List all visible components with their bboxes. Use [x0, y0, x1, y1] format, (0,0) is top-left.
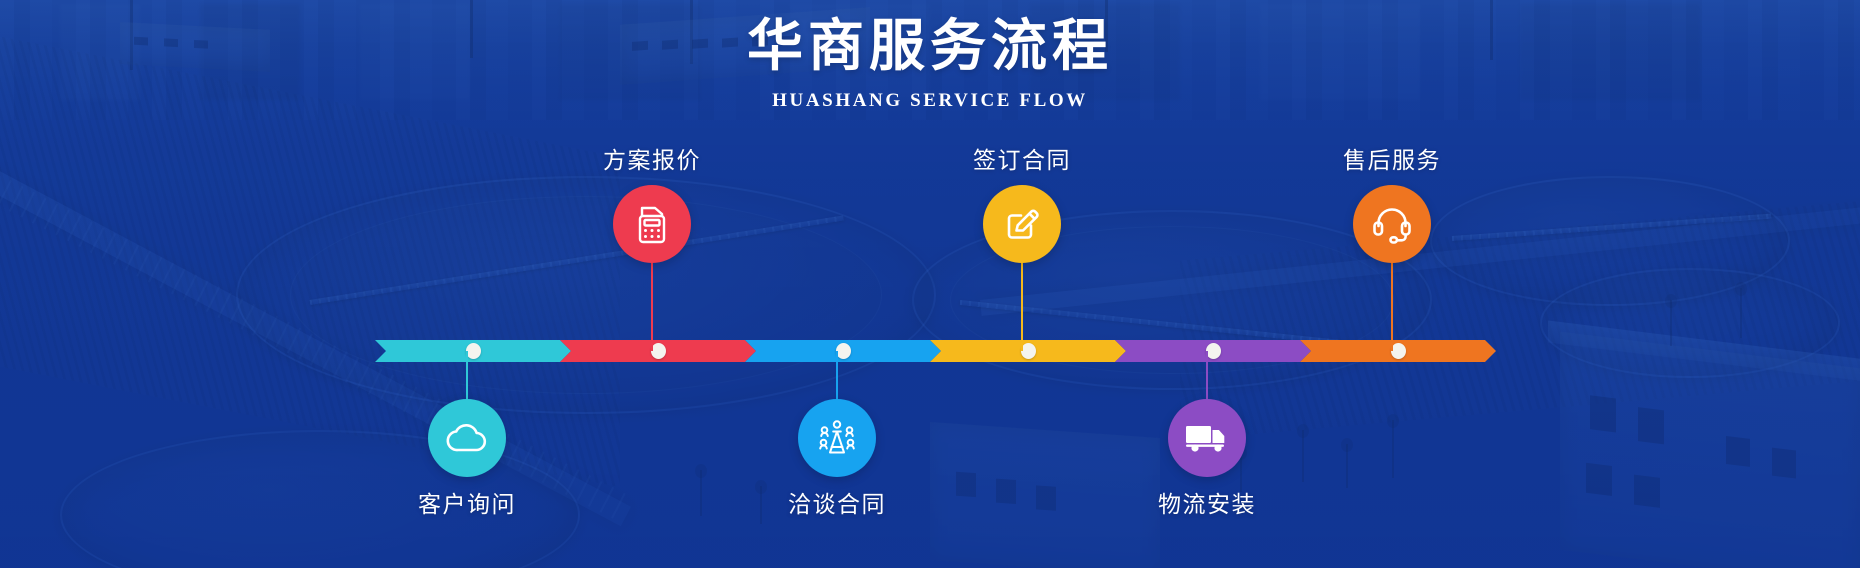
flow-step-circle[interactable]	[1168, 399, 1246, 477]
flow-step-label: 售后服务	[1242, 141, 1542, 175]
flow-step-label: 洽谈合同	[687, 485, 987, 519]
banner-titles: 华商服务流程 HUASHANG SERVICE FLOW	[0, 16, 1860, 112]
page-subtitle: HUASHANG SERVICE FLOW	[0, 90, 1860, 112]
flow-step-stem	[1206, 351, 1208, 399]
calculator-icon	[633, 203, 671, 245]
flow-step-label: 客户询问	[317, 485, 617, 519]
flow-step-stem	[836, 351, 838, 399]
flow-step-circle[interactable]	[1353, 185, 1431, 263]
flow-step-label: 物流安装	[1057, 485, 1357, 519]
flow-step-circle[interactable]	[613, 185, 691, 263]
flow-segment-4[interactable]	[930, 340, 1126, 362]
sign-contract-icon	[1001, 203, 1043, 245]
flow-segment-1[interactable]	[375, 340, 571, 362]
flow-step-circle[interactable]	[983, 185, 1061, 263]
flow-segment-6[interactable]	[1300, 340, 1496, 362]
truck-icon	[1183, 421, 1231, 455]
meeting-icon	[815, 418, 859, 458]
cloud-icon	[445, 421, 489, 455]
flow-step-circle[interactable]	[798, 399, 876, 477]
page-title: 华商服务流程	[0, 16, 1860, 78]
flow-step-stem	[651, 263, 653, 351]
flow-step-label: 方案报价	[502, 141, 802, 175]
flow-segment-3[interactable]	[745, 340, 941, 362]
flow-segment-5[interactable]	[1115, 340, 1311, 362]
flow-chevron-bar	[375, 340, 1485, 362]
headset-icon	[1370, 203, 1414, 245]
flow-step-label: 签订合同	[872, 141, 1172, 175]
flow-step-stem	[466, 351, 468, 399]
service-flow-banner: 华商服务流程 HUASHANG SERVICE FLOW 客户询问	[0, 0, 1860, 568]
flow-step-circle[interactable]	[428, 399, 506, 477]
flow-step-stem	[1021, 263, 1023, 351]
flow-step-stem	[1391, 263, 1393, 351]
flow-segment-2[interactable]	[560, 340, 756, 362]
